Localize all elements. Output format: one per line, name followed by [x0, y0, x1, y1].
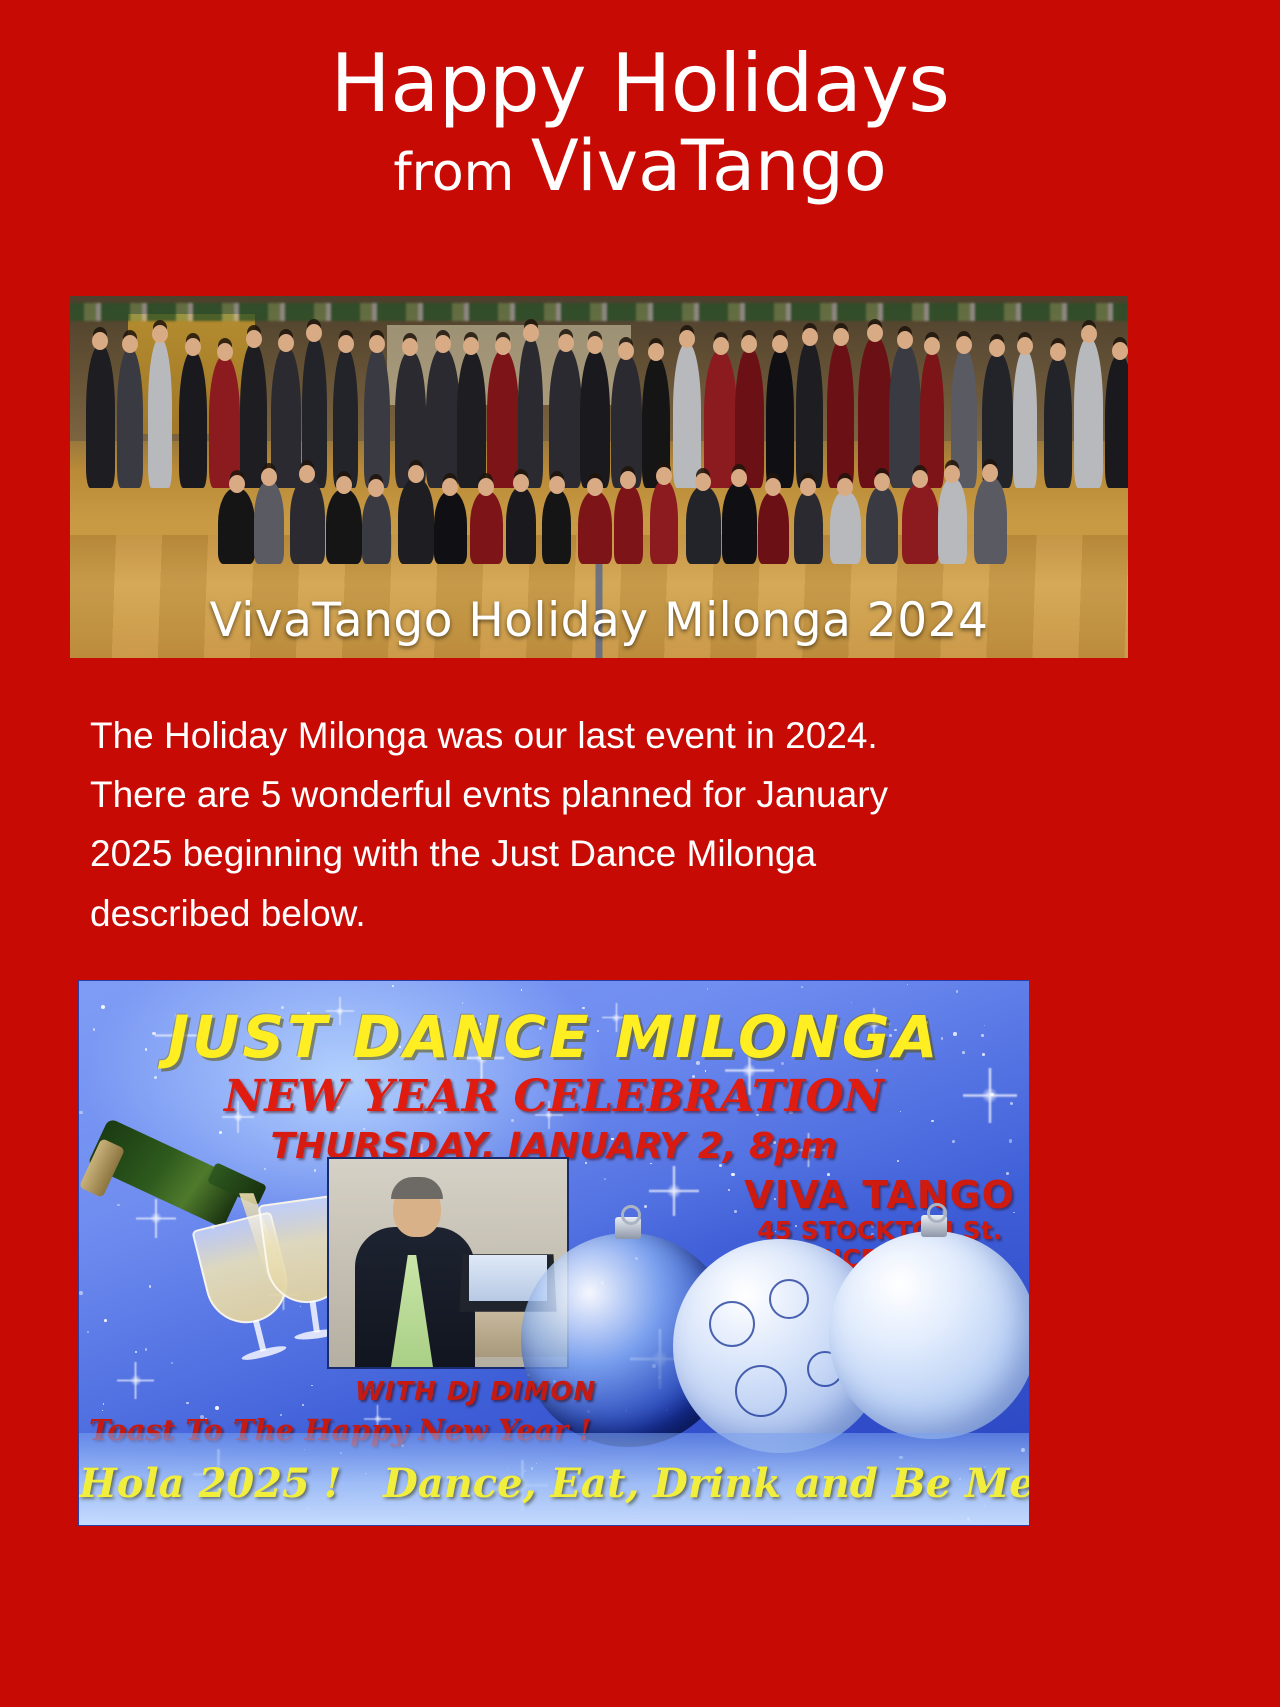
venue-name: VIVA TANGO	[744, 1173, 1015, 1217]
photo-person-head	[833, 328, 849, 346]
photo-person-head	[924, 337, 940, 355]
photo-person	[148, 338, 173, 487]
photo-person-head	[679, 330, 695, 348]
photo-person-head	[867, 324, 883, 342]
star-dot-icon	[907, 984, 908, 985]
photo-person-head	[229, 475, 245, 493]
page-header: Happy Holidays from VivaTango	[0, 0, 1280, 210]
ornament-cap	[615, 1217, 641, 1239]
photo-person-head	[299, 465, 315, 483]
photo-person-front	[830, 491, 861, 563]
photo-person-head	[278, 334, 294, 352]
star-dot-icon	[102, 1410, 103, 1411]
photo-person-head	[731, 469, 747, 487]
star-dot-icon	[644, 1205, 647, 1208]
photo-person-head	[620, 471, 636, 489]
photo-person-head	[989, 339, 1005, 357]
photo-person	[735, 348, 764, 488]
photo-person-head	[874, 473, 890, 491]
star-dot-icon	[956, 990, 958, 992]
photo-person-head	[558, 334, 574, 352]
photo-person-head	[772, 335, 788, 353]
photo-person-head	[122, 335, 138, 353]
photo-person-front	[218, 488, 255, 564]
photo-person	[889, 344, 920, 488]
photo-person-front	[254, 481, 284, 564]
star-dot-icon	[731, 1173, 735, 1177]
photo-person-head	[648, 343, 664, 361]
photo-person	[1044, 356, 1072, 488]
photo-person-front	[326, 489, 362, 564]
star-dot-icon	[801, 986, 803, 988]
photo-person	[333, 348, 358, 488]
photo-person-front	[578, 491, 612, 564]
photo-person-front	[650, 480, 678, 564]
photo-person-head	[1112, 342, 1128, 360]
photo-person-head	[442, 478, 458, 496]
photo-person-head	[152, 325, 168, 343]
photo-person-head	[246, 330, 262, 348]
photo-person-front	[290, 478, 325, 564]
photo-person-front	[722, 482, 757, 564]
photo-person-front	[938, 478, 967, 564]
photo-person-head	[802, 328, 818, 346]
glass-stem	[253, 1319, 267, 1352]
photo-person	[704, 350, 738, 487]
photo-person-head	[912, 470, 928, 488]
photo-person-front	[866, 486, 898, 564]
photo-person-head	[713, 337, 729, 355]
photo-person	[858, 337, 892, 487]
photo-person-front	[614, 484, 643, 564]
photo-person	[364, 348, 390, 487]
photo-person-front	[362, 492, 391, 564]
star-dot-icon	[707, 988, 709, 990]
photo-person-head	[982, 464, 998, 482]
photo-person-head	[408, 465, 424, 483]
photo-person-front	[398, 478, 434, 563]
photo-person-head	[587, 336, 603, 354]
photo-person-head	[656, 467, 672, 485]
photo-person-head	[217, 343, 233, 361]
photo-person	[766, 348, 795, 488]
photo-person	[487, 350, 519, 488]
photo-person	[549, 347, 582, 487]
photo-person	[240, 343, 266, 488]
photo-person	[1105, 355, 1128, 488]
star-dot-icon	[604, 1178, 606, 1180]
star-dot-icon	[79, 1291, 83, 1295]
sparkle-icon	[649, 1166, 699, 1216]
star-dot-icon	[521, 989, 523, 991]
photo-person-front	[686, 486, 721, 563]
photo-person-head	[368, 479, 384, 497]
photo-person	[518, 337, 543, 487]
photo-person-head	[800, 478, 816, 496]
star-dot-icon	[728, 1189, 730, 1191]
photo-person-front	[470, 491, 503, 564]
photo-person-head	[261, 468, 277, 486]
ornament-flower	[769, 1279, 809, 1319]
group-photo: VivaTango Holiday Milonga 2024	[70, 296, 1128, 658]
photo-person-head	[513, 474, 529, 492]
photo-person	[796, 341, 822, 487]
photo-person-head	[306, 324, 322, 342]
photo-person-head	[463, 337, 479, 355]
photo-person	[827, 341, 854, 488]
photo-person-front	[902, 483, 939, 563]
ornament-flower	[735, 1365, 787, 1417]
photo-person-head	[618, 342, 634, 360]
photo-person	[117, 348, 143, 488]
photo-person	[673, 343, 701, 488]
photo-person-head	[402, 338, 418, 356]
dj-caption: WITH DJ DIMON	[355, 1377, 596, 1407]
photo-person	[209, 356, 240, 488]
photo-person-front	[506, 487, 536, 564]
photo-person-head	[944, 465, 960, 483]
photo-person-head	[549, 476, 565, 494]
page-title-line2: from VivaTango	[0, 123, 1280, 211]
page-title-from: from	[393, 143, 531, 203]
photo-caption: VivaTango Holiday Milonga 2024	[70, 593, 1128, 648]
photo-person-head	[587, 478, 603, 496]
photo-person-head	[435, 335, 451, 353]
photo-person	[271, 347, 301, 488]
flyer-subtitle: NEW YEAR CELEBRATION	[79, 1071, 1029, 1122]
photo-person-head	[741, 335, 757, 353]
photo-person-head	[338, 335, 354, 353]
photo-person-front	[794, 491, 823, 564]
photo-person	[86, 345, 115, 487]
photo-person-head	[897, 331, 913, 349]
photo-person	[1013, 350, 1037, 488]
photo-person-front	[542, 489, 571, 564]
photo-person-head	[956, 336, 972, 354]
holiday-garland	[70, 303, 1128, 321]
glass-stem	[309, 1300, 319, 1333]
ornament-cap	[921, 1215, 947, 1237]
star-dot-icon	[734, 1210, 737, 1213]
photo-person	[179, 351, 207, 487]
photo-person	[457, 350, 486, 487]
photo-person-head	[1081, 325, 1097, 343]
photo-person-head	[1050, 343, 1066, 361]
photo-person-head	[523, 324, 539, 342]
photo-person	[920, 350, 944, 487]
event-flyer: JUST DANCE MILONGA NEW YEAR CELEBRATION …	[78, 980, 1030, 1526]
body-paragraph: The Holiday Milonga was our last event i…	[90, 706, 1100, 943]
photo-person-head	[765, 478, 781, 496]
page-title-line1: Happy Holidays	[0, 46, 1280, 123]
photo-person	[580, 349, 610, 488]
flyer-title: JUST DANCE MILONGA	[79, 1003, 1029, 1071]
ornament-flower	[709, 1301, 755, 1347]
photo-person	[426, 348, 460, 488]
photo-person-head	[837, 478, 853, 496]
photo-person-head	[92, 332, 108, 350]
photo-person	[1074, 338, 1103, 487]
photo-person	[611, 355, 642, 488]
star-dot-icon	[392, 985, 394, 987]
photo-person-head	[695, 473, 711, 491]
photo-person-front	[974, 477, 1007, 564]
photo-person-head	[1017, 337, 1033, 355]
ornament-snowflake	[829, 1231, 1030, 1439]
photo-person-head	[478, 478, 494, 496]
photo-person-head	[336, 476, 352, 494]
flyer-bottom-message: Hola 2025 ! Dance, Eat, Drink and Be Mer…	[79, 1460, 1029, 1507]
photo-person-head	[369, 335, 385, 353]
star-dot-icon	[215, 1406, 219, 1410]
brand-name: VivaTango	[531, 125, 887, 207]
photo-person-front	[758, 491, 790, 564]
photo-crowd	[70, 339, 1128, 563]
photo-person-front	[434, 491, 467, 564]
photo-person-head	[185, 338, 201, 356]
photo-person-head	[495, 337, 511, 355]
